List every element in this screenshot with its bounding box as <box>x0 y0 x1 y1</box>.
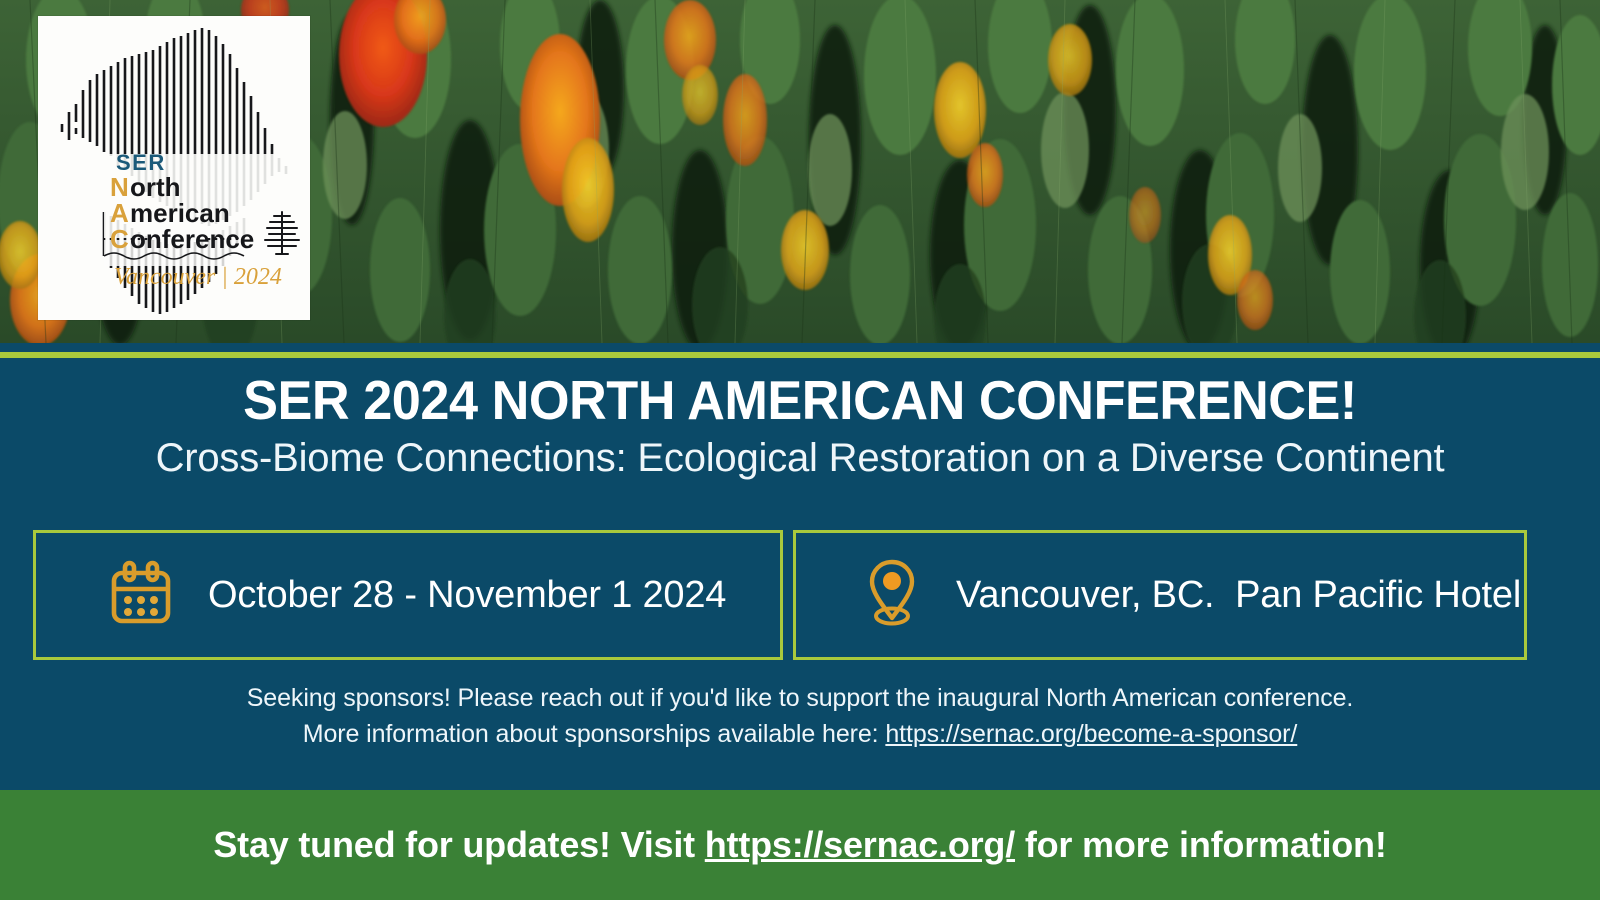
conference-flyer: SER N orth A merican C onference Vancouv… <box>0 0 1600 900</box>
footer-link[interactable]: https://sernac.org/ <box>705 824 1015 865</box>
footer-suffix: for more information! <box>1015 824 1387 865</box>
conference-logo-card: SER N orth A merican C onference Vancouv… <box>38 16 310 320</box>
svg-text:C: C <box>110 224 129 254</box>
calendar-icon <box>108 559 174 632</box>
page-title: SER 2024 NORTH AMERICAN CONFERENCE! <box>40 368 1560 432</box>
main-panel: SER 2024 NORTH AMERICAN CONFERENCE! Cros… <box>0 358 1600 790</box>
footer-prefix: Stay tuned for updates! Visit <box>213 824 704 865</box>
logo-tagline: Vancouver | 2024 <box>114 264 282 290</box>
sponsor-line-2-prefix: More information about sponsorships avai… <box>303 720 886 748</box>
location-info-box: Vancouver, BC. Pan Pacific Hotel <box>793 530 1527 660</box>
location-text: Vancouver, BC. Pan Pacific Hotel <box>956 574 1521 617</box>
date-info-box: October 28 - November 1 2024 <box>33 530 783 660</box>
info-box-row: October 28 - November 1 2024 Vancouver, … <box>33 530 1527 660</box>
svg-text:onference: onference <box>130 224 254 254</box>
sponsor-line-1: Seeking sponsors! Please reach out if yo… <box>0 680 1600 716</box>
sponsor-link[interactable]: https://sernac.org/become-a-sponsor/ <box>885 720 1297 748</box>
footer-text: Stay tuned for updates! Visit https://se… <box>213 824 1386 866</box>
location-pin-icon <box>864 557 920 634</box>
sponsor-line-2: More information about sponsorships avai… <box>0 716 1600 752</box>
footer-banner: Stay tuned for updates! Visit https://se… <box>0 790 1600 900</box>
sponsor-note: Seeking sponsors! Please reach out if yo… <box>0 680 1600 752</box>
page-subtitle: Cross-Biome Connections: Ecological Rest… <box>0 436 1600 481</box>
hero-forest-photo: SER N orth A merican C onference Vancouv… <box>0 0 1600 343</box>
date-text: October 28 - November 1 2024 <box>208 574 726 617</box>
